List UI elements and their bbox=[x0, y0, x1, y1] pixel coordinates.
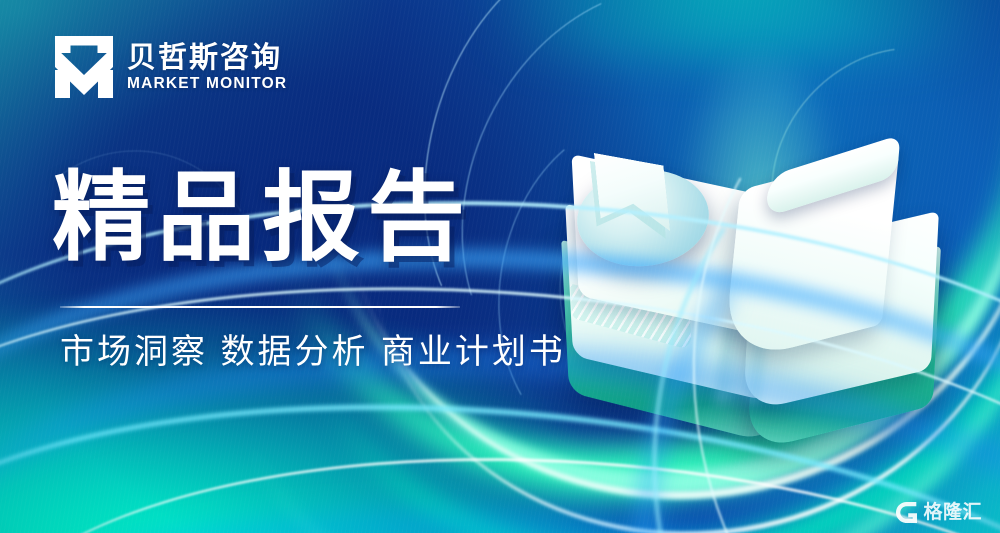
subtitle: 市场洞察 数据分析 商业计划书 bbox=[60, 330, 566, 376]
watermark-text: 格隆汇 bbox=[923, 503, 982, 522]
brand-name-en: MARKET MONITOR bbox=[127, 76, 287, 92]
brand-text: 贝哲斯咨询 MARKET MONITOR bbox=[127, 43, 287, 92]
watermark: 格隆汇 bbox=[896, 502, 982, 523]
report-banner: 贝哲斯咨询 MARKET MONITOR 精品报告 市场洞察 数据分析 商业计划… bbox=[0, 0, 1000, 533]
brand-name-cn: 贝哲斯咨询 bbox=[127, 43, 287, 73]
banner-content: 贝哲斯咨询 MARKET MONITOR 精品报告 市场洞察 数据分析 商业计划… bbox=[0, 0, 1000, 533]
page-title: 精品报告 bbox=[52, 168, 472, 266]
brand-lockup: 贝哲斯咨询 MARKET MONITOR bbox=[55, 36, 287, 98]
market-monitor-m-logo-icon bbox=[55, 36, 113, 98]
gelonghui-g-logo-icon bbox=[896, 502, 917, 523]
title-divider bbox=[60, 306, 460, 308]
